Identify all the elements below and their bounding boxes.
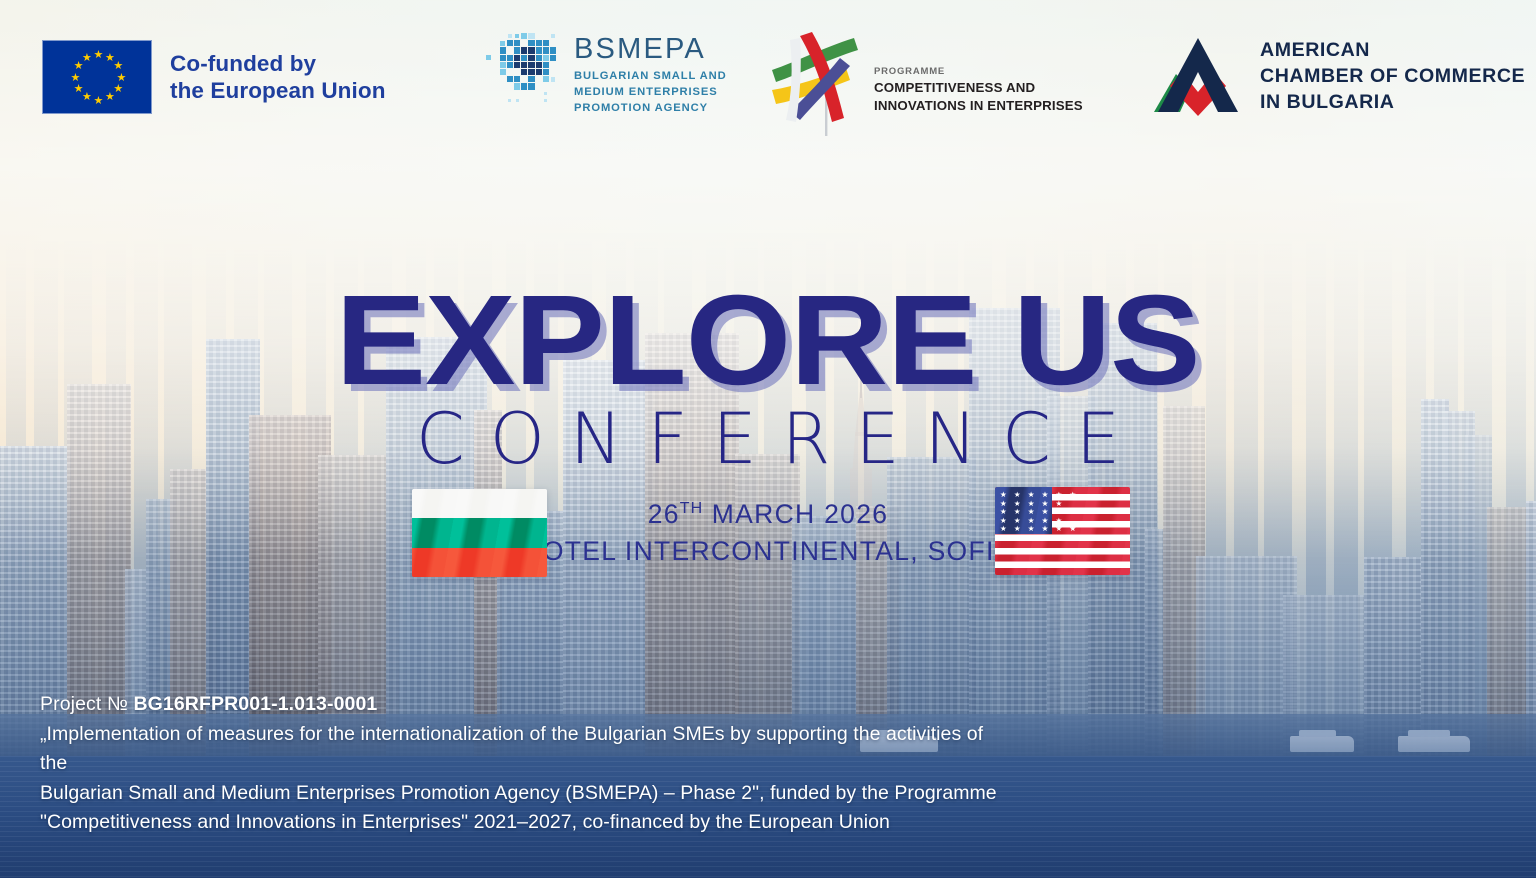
bsmepa-logo: BSMEPA BULGARIAN SMALL AND MEDIUM ENTERP…: [478, 33, 727, 119]
eu-line-2: the European Union: [170, 77, 386, 104]
usa-flag: ★ ★ ★ ★ ★ ★★ ★ ★ ★ ★★ ★ ★ ★ ★ ★★ ★ ★ ★ ★…: [995, 487, 1130, 575]
bulgaria-flag: [412, 489, 547, 577]
eu-flag-icon: ★★★★★★★★★★★★: [42, 40, 152, 114]
bsmepa-title: BSMEPA: [574, 35, 727, 64]
bsmepa-sub-1: BULGARIAN SMALL AND: [574, 69, 727, 85]
bsmepa-sub-3: PROMOTION AGENCY: [574, 101, 727, 117]
programme-ribbon-mark-icon: [770, 28, 862, 136]
amcham-line-2: CHAMBER OF COMMERCE: [1260, 63, 1525, 89]
programme-line-1: COMPETITIVENESS AND: [874, 79, 1083, 97]
eu-logo-text: Co-funded by the European Union: [170, 50, 386, 105]
amcham-logo-text: AMERICAN CHAMBER OF COMMERCE IN BULGARIA: [1260, 37, 1525, 116]
project-number-line: Project № BG16RFPR001-1.013-0001: [40, 690, 1000, 719]
project-desc-line-2: Bulgarian Small and Medium Enterprises P…: [40, 779, 1000, 809]
hero-title-wrap: EXPLORE US: [0, 286, 1536, 396]
conference-banner: ★★★★★★★★★★★★ Co-funded by the European U…: [0, 0, 1536, 878]
european-union-logo: ★★★★★★★★★★★★ Co-funded by the European U…: [42, 40, 386, 114]
programme-title: COMPETITIVENESS AND INNOVATIONS IN ENTER…: [874, 79, 1083, 114]
bsmepa-sub-2: MEDIUM ENTERPRISES: [574, 85, 727, 101]
programme-logo-text: PROGRAMME COMPETITIVENESS AND INNOVATION…: [874, 66, 1083, 114]
american-chamber-of-commerce-logo: AMERICAN CHAMBER OF COMMERCE IN BULGARIA: [1152, 36, 1525, 116]
amcham-line-3: IN BULGARIA: [1260, 89, 1525, 115]
bsmepa-subtitle: BULGARIAN SMALL AND MEDIUM ENTERPRISES P…: [574, 69, 727, 117]
sponsor-logo-bar: ★★★★★★★★★★★★ Co-funded by the European U…: [0, 0, 1536, 146]
event-subtitle: CONFERENCE: [0, 404, 1536, 474]
event-date-rest: MARCH 2026: [703, 499, 888, 529]
bsmepa-pixel-mark-icon: [478, 33, 560, 119]
project-description: „Implementation of measures for the inte…: [40, 720, 1000, 839]
project-funding-note: Project № BG16RFPR001-1.013-0001 „Implem…: [40, 690, 1000, 838]
project-number: BG16RFPR001-1.013-0001: [133, 693, 377, 715]
event-details: 26TH MARCH 2026 HOTEL INTERCONTINENTAL, …: [0, 497, 1536, 569]
eu-line-1: Co-funded by: [170, 50, 386, 77]
event-date: 26TH MARCH 2026: [0, 497, 1536, 532]
project-desc-line-3: "Competitiveness and Innovations in Ente…: [40, 808, 1000, 838]
project-desc-line-1: „Implementation of measures for the inte…: [40, 720, 1000, 779]
amcham-line-1: AMERICAN: [1260, 37, 1525, 63]
bsmepa-logo-text: BSMEPA BULGARIAN SMALL AND MEDIUM ENTERP…: [574, 35, 727, 117]
event-date-day: 26: [648, 499, 680, 529]
programme-competitiveness-logo: PROGRAMME COMPETITIVENESS AND INNOVATION…: [770, 28, 1083, 136]
event-title: EXPLORE US: [336, 286, 1200, 396]
project-label: Project №: [40, 693, 133, 715]
programme-line-2: INNOVATIONS IN ENTERPRISES: [874, 97, 1083, 115]
programme-kicker: PROGRAMME: [874, 66, 1083, 77]
event-date-ordinal: TH: [680, 500, 703, 517]
amcham-a-mark-icon: [1152, 36, 1244, 116]
event-venue: HOTEL INTERCONTINENTAL, SOFIA: [0, 534, 1536, 569]
